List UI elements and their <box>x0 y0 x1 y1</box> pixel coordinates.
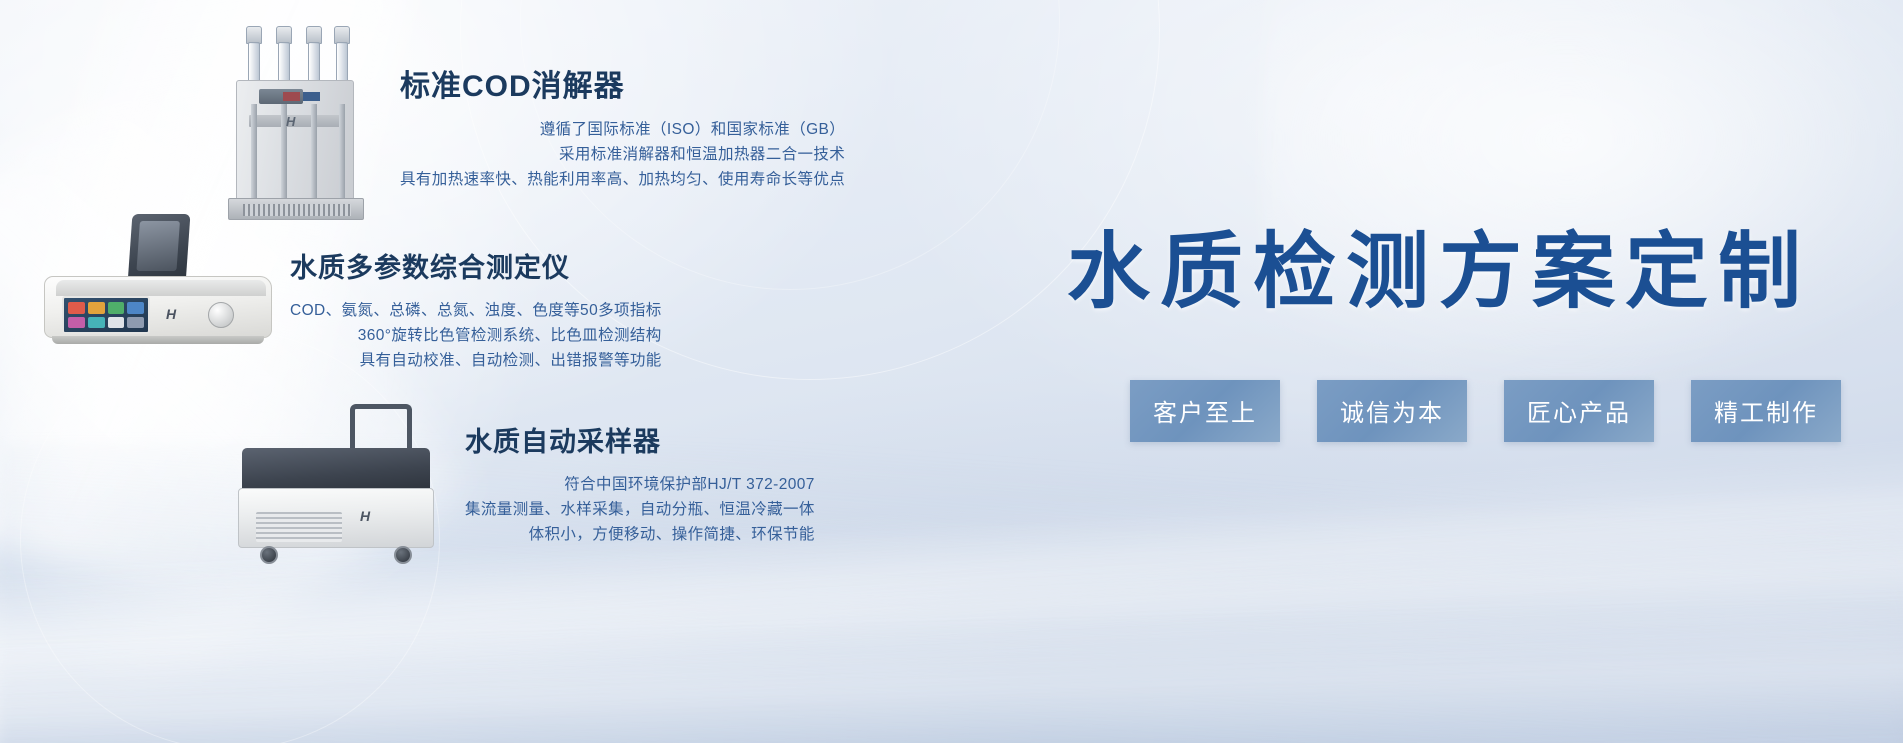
product-title: 水质多参数综合测定仪 <box>290 254 662 284</box>
brand-mark-icon: H <box>166 306 176 322</box>
product-description-line: 具有自动校准、自动检测、出错报警等功能 <box>290 348 662 373</box>
product-block-auto-water-sampler: H 水质自动采样器 符合中国环境保护部HJ/T 372-2007 集流量测量、水… <box>232 404 815 574</box>
value-chip-fine-manufacturing[interactable]: 精工制作 <box>1691 380 1841 442</box>
product-description-line: COD、氨氮、总磷、总氮、浊度、色度等50多项指标 <box>290 298 662 323</box>
product-block-cod-digester: H 标准COD消解器 遵循了国际标准（ISO）和国家标准（GB） 采用标准消解器… <box>228 48 845 220</box>
product-description: 符合中国环境保护部HJ/T 372-2007 集流量测量、水样采集，自动分瓶、恒… <box>465 472 815 547</box>
wave-decoration <box>0 596 1903 743</box>
page-title: 水质检测方案定制 <box>1059 230 1819 313</box>
product-description-line: 360°旋转比色管检测系统、比色皿检测结构 <box>290 323 662 348</box>
product-title: 水质自动采样器 <box>465 428 815 458</box>
brand-mark-icon: H <box>286 114 295 129</box>
multi-parameter-analyzer-product-image: H <box>38 214 278 354</box>
product-description-line: 符合中国环境保护部HJ/T 372-2007 <box>465 472 815 497</box>
brand-mark-icon: H <box>360 508 370 524</box>
promotional-banner: H 标准COD消解器 遵循了国际标准（ISO）和国家标准（GB） 采用标准消解器… <box>0 0 1903 743</box>
product-description-line: 体积小，方便移动、操作简捷、环保节能 <box>465 522 815 547</box>
value-chip-craftsmanship[interactable]: 匠心产品 <box>1504 380 1654 442</box>
product-title: 标准COD消解器 <box>400 70 845 103</box>
product-description-line: 遵循了国际标准（ISO）和国家标准（GB） <box>400 117 845 142</box>
cod-digester-product-image: H <box>228 48 364 220</box>
value-chip-customer-first[interactable]: 客户至上 <box>1130 380 1280 442</box>
product-description-line: 采用标准消解器和恒温加热器二合一技术 <box>400 142 845 167</box>
value-chip-list: 客户至上 诚信为本 匠心产品 精工制作 <box>1130 380 1841 442</box>
product-block-multi-parameter-analyzer: H 水质多参数综合测定仪 COD、氨氮、总磷、总氮、浊度、色度等50多项指标 3… <box>38 214 662 373</box>
product-description: COD、氨氮、总磷、总氮、浊度、色度等50多项指标 360°旋转比色管检测系统、… <box>290 298 662 373</box>
hero-heading-area: 水质检测方案定制 <box>1059 230 1819 313</box>
auto-water-sampler-product-image: H <box>232 404 437 574</box>
value-chip-integrity[interactable]: 诚信为本 <box>1317 380 1467 442</box>
product-description-line: 具有加热速率快、热能利用率高、加热均匀、使用寿命长等优点 <box>400 167 845 192</box>
product-description-line: 集流量测量、水样采集，自动分瓶、恒温冷藏一体 <box>465 497 815 522</box>
product-description: 遵循了国际标准（ISO）和国家标准（GB） 采用标准消解器和恒温加热器二合一技术… <box>400 117 845 192</box>
light-streak-decoration <box>1263 0 1903 400</box>
analyzer-touchscreen <box>62 296 150 334</box>
